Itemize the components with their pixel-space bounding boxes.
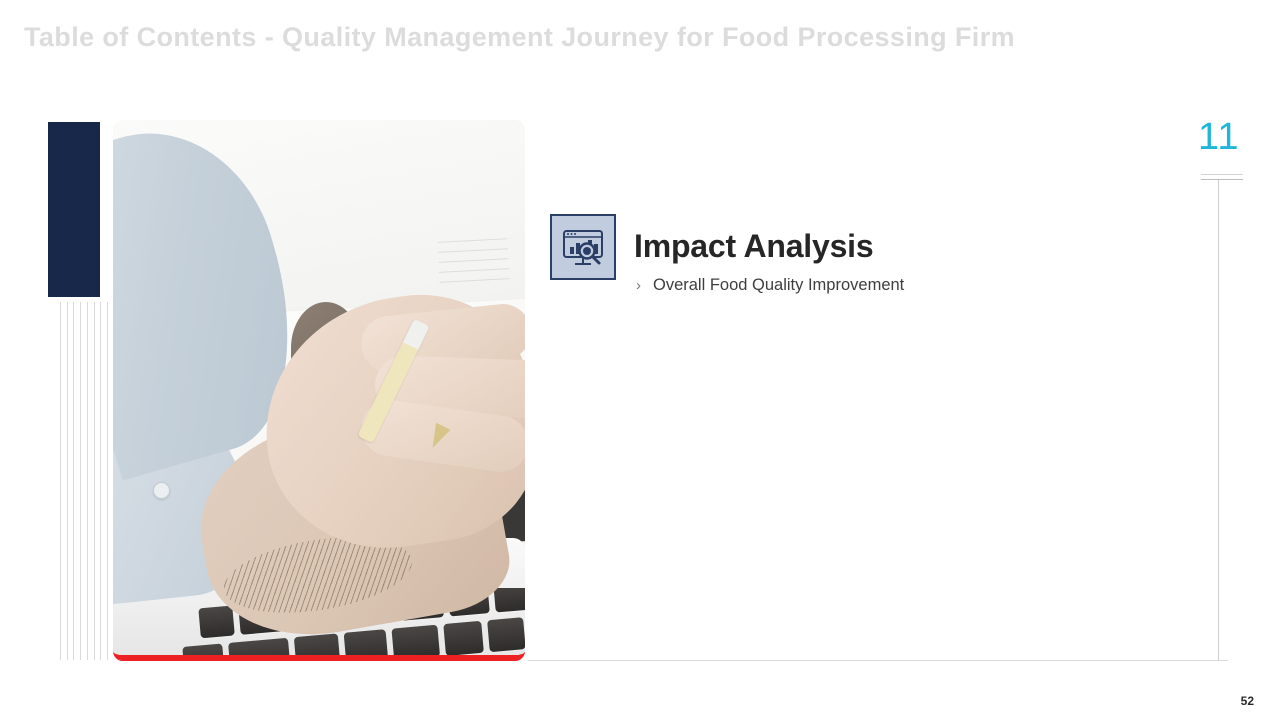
list-item-label: Overall Food Quality Improvement <box>653 276 904 295</box>
photo-illustration <box>113 120 525 655</box>
list-item: › Overall Food Quality Improvement <box>636 276 904 295</box>
hairline <box>87 302 88 660</box>
chevron-right-icon: › <box>636 277 641 294</box>
section-icon-box <box>550 214 616 280</box>
hairline <box>100 302 101 660</box>
hairline <box>94 302 95 660</box>
footer-page-number: 52 <box>1241 694 1254 708</box>
hairline <box>73 302 74 660</box>
section-heading: Impact Analysis <box>634 228 873 265</box>
page-marker: 11 <box>1198 118 1258 156</box>
hairline <box>80 302 81 660</box>
cuff-button <box>153 482 170 499</box>
photo-card <box>113 120 525 661</box>
baseline-rule <box>528 660 1228 661</box>
section-bullet-list: › Overall Food Quality Improvement <box>636 276 904 303</box>
page-number: 11 <box>1198 118 1258 156</box>
marker-rule <box>1201 174 1243 175</box>
marker-rule <box>1201 179 1243 180</box>
page-title: Table of Contents - Quality Management J… <box>24 20 1224 55</box>
monitor-bar-chart-magnifier-icon <box>560 225 606 271</box>
marker-vertical-line <box>1218 180 1219 661</box>
notebook-ruled-lines <box>437 238 510 302</box>
hairline <box>107 302 108 660</box>
hairline <box>60 302 61 660</box>
hairline <box>67 302 68 660</box>
hairline-decoration <box>60 302 108 660</box>
navy-accent-block <box>48 122 100 297</box>
